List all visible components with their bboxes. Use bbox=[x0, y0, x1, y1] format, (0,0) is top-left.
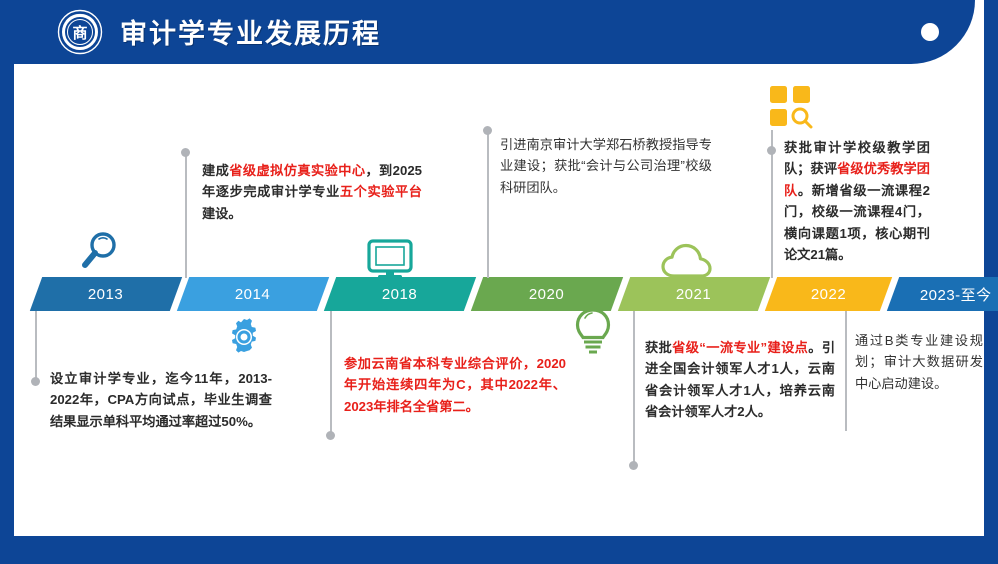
gear-icon bbox=[222, 315, 266, 364]
page-title: 审计学专业发展历程 bbox=[120, 12, 381, 51]
connector-2020 bbox=[487, 130, 489, 278]
timeline-segment-2014[interactable]: 2014 bbox=[177, 277, 329, 311]
timeline-segment-2022[interactable]: 2022 bbox=[765, 277, 892, 311]
timeline-label-2023: 2023-至今 bbox=[920, 284, 992, 305]
entry-text-2023: 通过B类专业建设规划；审计大数据研发中心启动建设。 bbox=[855, 330, 983, 394]
timeline-label-2022: 2022 bbox=[811, 286, 846, 303]
timeline-segment-2013[interactable]: 2013 bbox=[30, 277, 182, 311]
timeline-label-2021: 2021 bbox=[676, 286, 711, 303]
cloud-icon bbox=[660, 242, 714, 287]
entry-text-2018: 参加云南省本科专业综合评价，2020年开始连续四年为C，其中2022年、2023… bbox=[344, 353, 566, 417]
highlighted-text-run: 五个实验平台 bbox=[340, 184, 422, 199]
highlighted-text-run: 参加云南省本科专业综合评价，2020年开始连续四年为C，其中2022年、2023… bbox=[344, 356, 566, 414]
timeline-segment-2023[interactable]: 2023-至今 bbox=[887, 277, 998, 311]
connector-node-2022 bbox=[767, 146, 776, 155]
connector-node-2018 bbox=[326, 431, 335, 440]
highlighted-text-run: 省级“一流专业”建设点 bbox=[672, 340, 808, 355]
header-accent-dot bbox=[921, 23, 939, 41]
monitor-icon bbox=[365, 238, 415, 287]
timeline-label-2020: 2020 bbox=[529, 286, 564, 303]
lightbulb-icon bbox=[572, 306, 614, 361]
entry-text-2021: 获批省级“一流专业”建设点。引进全国会计领军人才1人，云南省会计领军人才1人，培… bbox=[645, 337, 835, 423]
grid-search-icon bbox=[768, 84, 816, 135]
connector-node-2021 bbox=[629, 461, 638, 470]
connector-2013 bbox=[35, 311, 37, 379]
magnifier-icon bbox=[74, 228, 122, 281]
text-run: 建设。 bbox=[202, 206, 242, 221]
left-edge-bar bbox=[0, 0, 14, 564]
entry-text-2022: 获批审计学校级教学团队；获评省级优秀教学团队。新增省级一流课程2门，校级一流课程… bbox=[784, 137, 930, 265]
timeline-label-2013: 2013 bbox=[88, 286, 123, 303]
text-run: 。新增省级一流课程2门，校级一流课程4门，横向课题1项，核心期刊论文21篇。 bbox=[784, 183, 930, 262]
page-header: 商 审计学专业发展历程 bbox=[0, 0, 975, 64]
entry-text-2020: 引进南京审计大学郑石桥教授指导专业建设；获批“会计与公司治理”校级科研团队。 bbox=[500, 134, 712, 198]
entry-text-2013: 设立审计学专业，迄今11年，2013-2022年，CPA方向试点，毕业生调查结果… bbox=[50, 368, 272, 432]
connector-2023 bbox=[845, 311, 847, 431]
connector-2014 bbox=[185, 152, 187, 278]
connector-node-2013 bbox=[31, 377, 40, 386]
timeline-label-2018: 2018 bbox=[382, 286, 417, 303]
svg-text:商: 商 bbox=[72, 24, 87, 42]
text-run: 获批 bbox=[645, 340, 672, 355]
text-run: 建成 bbox=[202, 163, 229, 178]
timeline-bar: 2013 2014 2018 2020 2021 2022 2023-至今 bbox=[28, 277, 970, 311]
connector-node-2014 bbox=[181, 148, 190, 157]
highlighted-text-run: 省级虚拟仿真实验中心 bbox=[229, 163, 365, 178]
text-run: 通过B类专业建设规划；审计大数据研发中心启动建设。 bbox=[855, 333, 983, 391]
university-logo-icon: 商 bbox=[48, 8, 112, 56]
connector-2018 bbox=[330, 311, 332, 435]
page-footer-bar bbox=[0, 536, 998, 564]
entry-text-2014: 建成省级虚拟仿真实验中心，到2025年逐步完成审计学专业五个实验平台建设。 bbox=[202, 160, 422, 224]
connector-node-2020 bbox=[483, 126, 492, 135]
connector-2021 bbox=[633, 311, 635, 465]
timeline-label-2014: 2014 bbox=[235, 286, 270, 303]
text-run: 设立审计学专业，迄今11年，2013-2022年，CPA方向试点，毕业生调查结果… bbox=[50, 371, 272, 429]
text-run: 引进南京审计大学郑石桥教授指导专业建设；获批“会计与公司治理”校级科研团队。 bbox=[500, 137, 712, 195]
